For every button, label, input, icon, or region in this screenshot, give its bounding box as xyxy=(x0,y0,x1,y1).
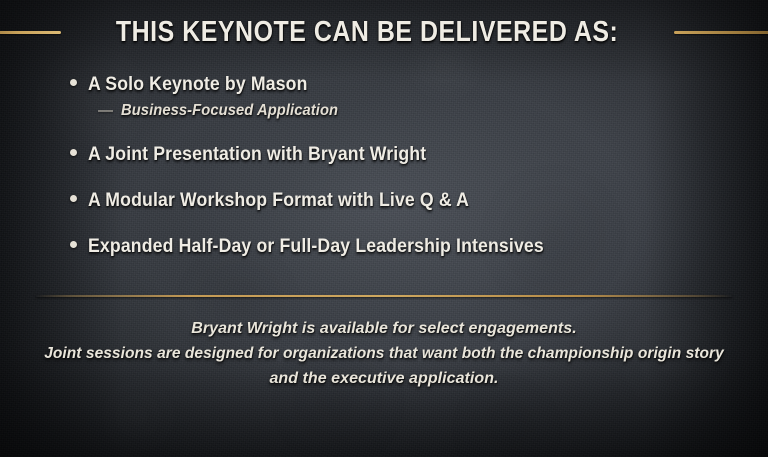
bullet-label: A Solo Keynote by Mason xyxy=(88,74,308,96)
footer-line: and the executive application. xyxy=(0,366,768,391)
bullet-label: A Modular Workshop Format with Live Q & … xyxy=(88,190,469,212)
bullet-dot-icon xyxy=(70,195,77,202)
presentation-slide: THIS KEYNOTE CAN BE DELIVERED AS: A Solo… xyxy=(0,0,768,457)
bullet-label: Expanded Half-Day or Full-Day Leadership… xyxy=(88,236,544,258)
bullet-dot-icon xyxy=(70,241,77,248)
bullet-dot-icon xyxy=(70,79,77,86)
em-dash-icon: — xyxy=(98,103,113,118)
list-item: Expanded Half-Day or Full-Day Leadership… xyxy=(70,236,710,258)
gold-rule-right-icon xyxy=(674,31,768,34)
bullet-row: A Modular Workshop Format with Live Q & … xyxy=(70,190,710,212)
slide-footer: Bryant Wright is available for select en… xyxy=(0,316,768,391)
list-item: A Joint Presentation with Bryant Wright xyxy=(70,144,710,166)
gold-rule-left-icon xyxy=(0,31,61,34)
footer-line: Bryant Wright is available for select en… xyxy=(0,316,768,341)
bullet-label: A Joint Presentation with Bryant Wright xyxy=(88,144,426,166)
page-title: THIS KEYNOTE CAN BE DELIVERED AS: xyxy=(116,18,618,47)
bullet-dot-icon xyxy=(70,149,77,156)
bullet-row: A Solo Keynote by Mason xyxy=(70,74,710,96)
bullet-row: Expanded Half-Day or Full-Day Leadership… xyxy=(70,236,710,258)
bullet-sub-row: — Business-Focused Application xyxy=(98,102,710,120)
bullet-sub-label: Business-Focused Application xyxy=(121,102,338,120)
list-item: A Modular Workshop Format with Live Q & … xyxy=(70,190,710,212)
slide-header: THIS KEYNOTE CAN BE DELIVERED AS: xyxy=(0,12,768,52)
section-divider xyxy=(36,295,732,297)
footer-line: Joint sessions are designed for organiza… xyxy=(12,341,757,366)
list-item: A Solo Keynote by Mason — Business-Focus… xyxy=(70,74,710,120)
bullet-row: A Joint Presentation with Bryant Wright xyxy=(70,144,710,166)
delivery-options-list: A Solo Keynote by Mason — Business-Focus… xyxy=(70,74,710,259)
